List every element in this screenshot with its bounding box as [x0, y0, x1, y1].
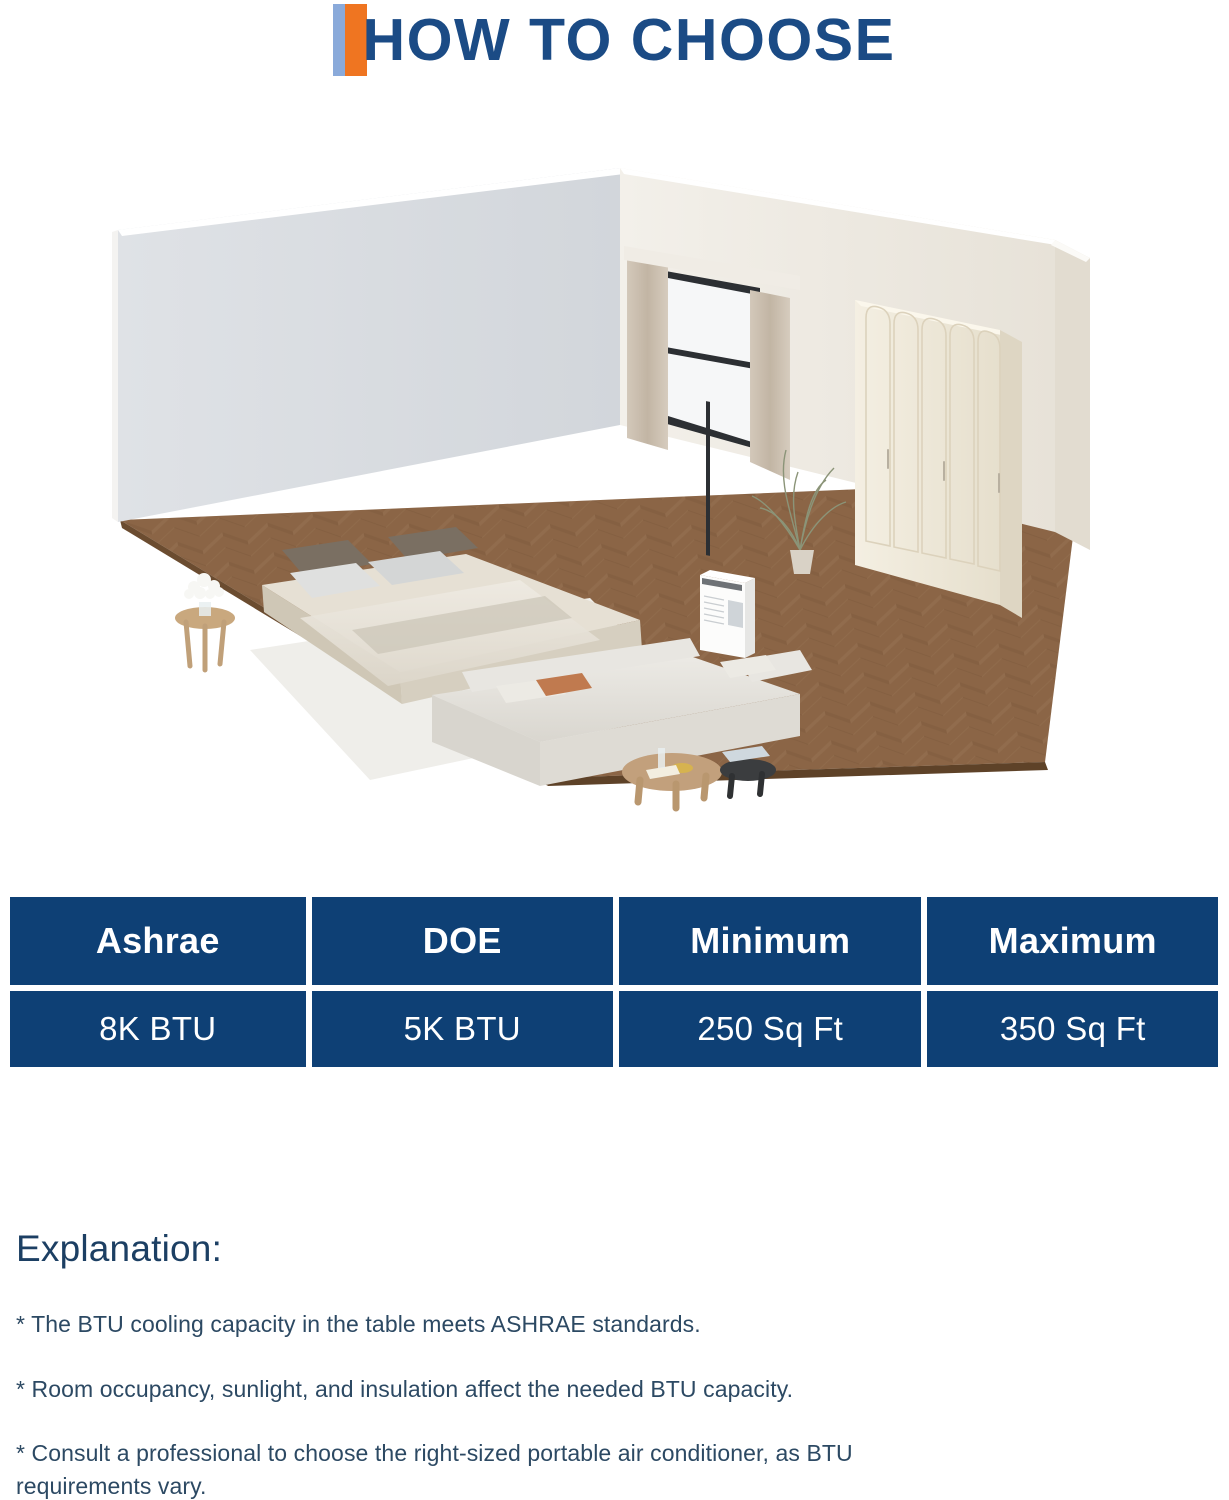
window-mullion: [706, 401, 710, 556]
explanation-title: Explanation:: [16, 1228, 1016, 1270]
back-wall-group: [112, 168, 624, 522]
table-header-row: Ashrae DOE Minimum Maximum: [10, 897, 1218, 985]
black-side-table-group: [720, 746, 776, 796]
explanation-line-1: * The BTU cooling capacity in the table …: [16, 1308, 976, 1341]
nightstand-legs: [186, 622, 224, 670]
curtain-left: [627, 254, 668, 450]
plant-pot: [790, 550, 814, 574]
how-to-choose-infographic: HOW TO CHOOSE: [0, 0, 1229, 1500]
btu-spec-table: Ashrae DOE Minimum Maximum 8K BTU 5K BTU…: [10, 897, 1218, 1067]
page-header: HOW TO CHOOSE: [0, 0, 1229, 96]
table-value-ashrae: 8K BTU: [10, 991, 306, 1067]
table-header-doe: DOE: [312, 897, 613, 985]
side-wall-thickness: [1055, 240, 1090, 550]
table-value-maximum: 350 Sq Ft: [927, 991, 1218, 1067]
side-table-top: [720, 759, 776, 781]
table-value-row: 8K BTU 5K BTU 250 Sq Ft 350 Sq Ft: [10, 991, 1218, 1067]
page-title: HOW TO CHOOSE: [362, 4, 895, 76]
wardrobe-group: [855, 300, 1022, 618]
explanation-line-3: * Consult a professional to choose the r…: [16, 1437, 976, 1500]
ac-panel: [728, 600, 743, 628]
wardrobe-side: [1000, 330, 1022, 618]
table-value-minimum: 250 Sq Ft: [619, 991, 921, 1067]
back-wall-edge: [112, 230, 118, 522]
explanation-section: Explanation: * The BTU cooling capacity …: [16, 1228, 1016, 1500]
portable-air-conditioner: [700, 570, 755, 658]
nightstand-group: [175, 607, 235, 670]
ac-side: [745, 578, 755, 658]
accent-bar-blue-icon: [333, 4, 345, 76]
vase: [199, 602, 211, 616]
table-header-ashrae: Ashrae: [10, 897, 306, 985]
table-header-minimum: Minimum: [619, 897, 921, 985]
curtain-right: [750, 290, 790, 480]
table-header-maximum: Maximum: [927, 897, 1218, 985]
drinking-glass: [658, 748, 665, 768]
room-render-image: [0, 150, 1229, 840]
table-value-doe: 5K BTU: [312, 991, 613, 1067]
header-inner: HOW TO CHOOSE: [333, 0, 895, 80]
explanation-line-2: * Room occupancy, sunlight, and insulati…: [16, 1373, 976, 1406]
room-scene-svg: [0, 150, 1229, 840]
